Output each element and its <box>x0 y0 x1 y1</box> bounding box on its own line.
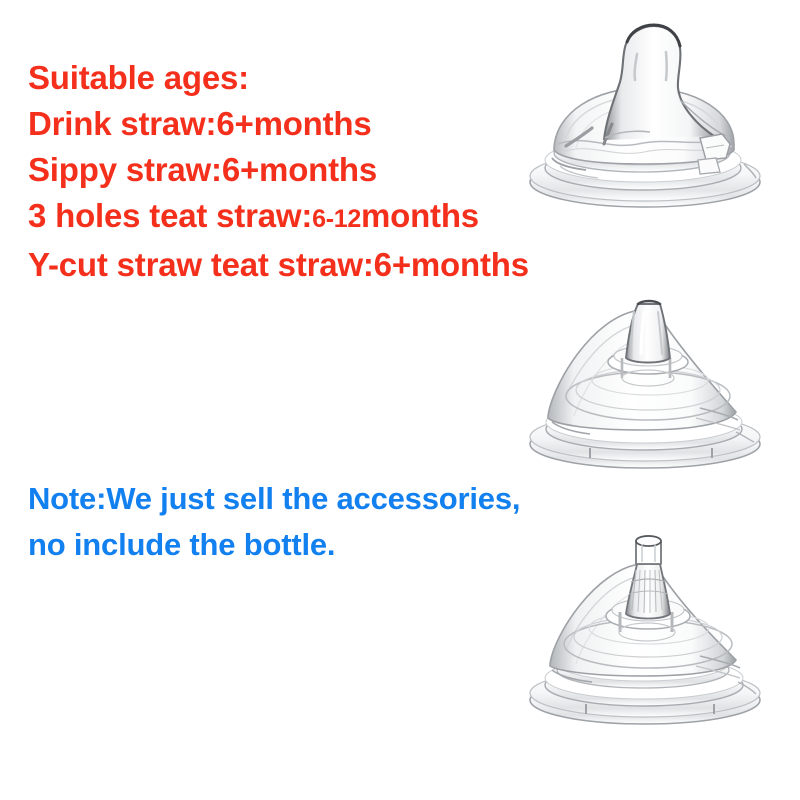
product-image-sippy-spout <box>500 282 790 472</box>
age-line-3-holes-teat-straw-age: 6-12 <box>312 205 361 233</box>
straw-teat-icon <box>500 524 790 729</box>
age-line-y-cut-straw-teat-straw-label: Y-cut straw teat straw: <box>28 246 374 283</box>
age-line-drink-straw-label: Drink straw: <box>28 105 216 142</box>
age-line-sippy-straw-label: Sippy straw: <box>28 151 222 188</box>
age-line-y-cut-straw-teat-straw-age: 6+ <box>374 246 411 283</box>
bottle-teat-icon <box>500 8 790 208</box>
note-line-1: Note:We just sell the accessories, <box>28 476 648 522</box>
age-line-drink-straw-unit: months <box>254 105 372 142</box>
product-info-canvas: Suitable ages: Drink straw:6+months Sipp… <box>0 0 800 800</box>
age-line-3-holes-teat-straw-unit: months <box>361 197 479 234</box>
age-line-drink-straw-age: 6+ <box>216 105 253 142</box>
age-line-sippy-straw-age: 6+ <box>222 151 259 188</box>
product-image-drink-straw-teat <box>500 8 790 208</box>
age-line-sippy-straw-unit: months <box>259 151 377 188</box>
product-image-straw-teat <box>500 524 790 729</box>
sippy-spout-icon <box>500 282 790 472</box>
age-line-y-cut-straw-teat-straw-unit: months <box>411 246 529 283</box>
age-line-3-holes-teat-straw-label: 3 holes teat straw: <box>28 197 312 234</box>
